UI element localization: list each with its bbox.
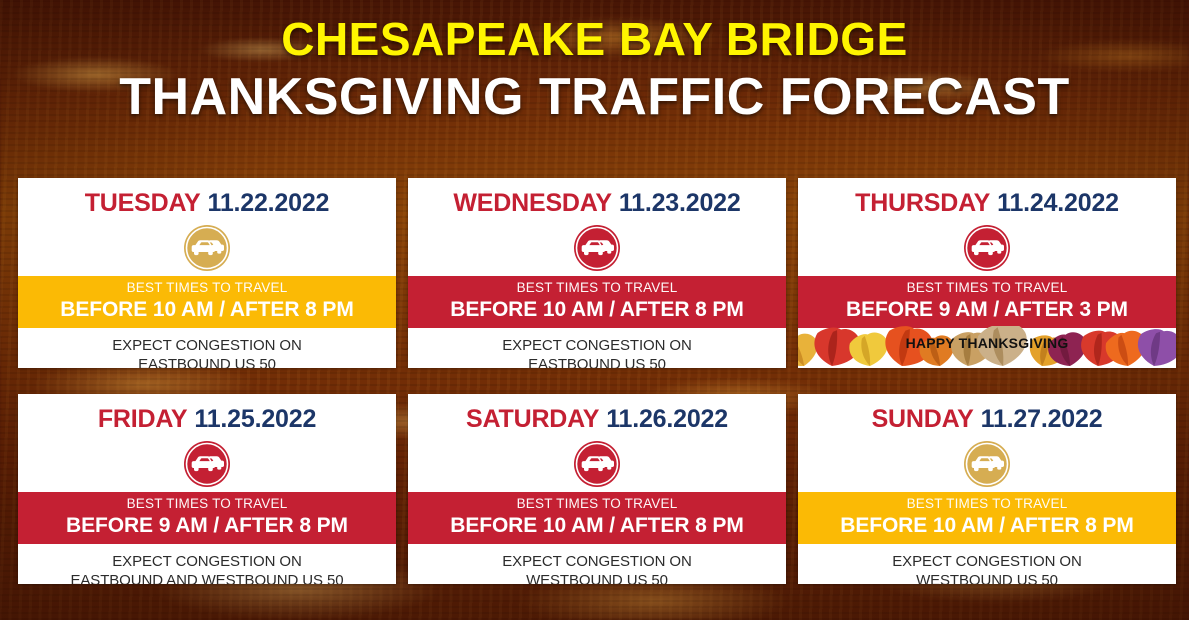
card-date-heading: SATURDAY11.26.2022 — [466, 405, 728, 434]
card-date: 11.26.2022 — [606, 405, 728, 433]
best-times-band: BEST TIMES TO TRAVELBEFORE 9 AM / AFTER … — [798, 276, 1176, 328]
best-times-value: BEFORE 9 AM / AFTER 3 PM — [798, 297, 1176, 322]
card-day-name: SUNDAY — [872, 405, 974, 433]
traffic-cars-icon — [183, 224, 231, 272]
congestion-note-line-2: EASTBOUND AND WESTBOUND US 50 — [71, 571, 344, 584]
forecast-card-wednesday: WEDNESDAY11.23.2022BEST TIMES TO TRAVELB… — [408, 178, 786, 368]
best-times-value: BEFORE 10 AM / AFTER 8 PM — [18, 297, 396, 322]
best-times-band: BEST TIMES TO TRAVELBEFORE 9 AM / AFTER … — [18, 492, 396, 544]
holiday-message: HAPPY THANKSGIVING — [906, 335, 1069, 351]
congestion-note-line-1: EXPECT CONGESTION ON — [71, 552, 344, 571]
card-day-name: TUESDAY — [85, 189, 201, 217]
congestion-note-line-2: WESTBOUND US 50 — [502, 571, 691, 584]
card-date-heading: WEDNESDAY11.23.2022 — [453, 189, 740, 218]
card-date: 11.23.2022 — [619, 189, 741, 217]
card-day-name: THURSDAY — [855, 189, 990, 217]
card-date: 11.25.2022 — [194, 405, 316, 433]
best-times-band: BEST TIMES TO TRAVELBEFORE 10 AM / AFTER… — [408, 492, 786, 544]
traffic-cars-icon — [573, 224, 621, 272]
card-date-heading: TUESDAY11.22.2022 — [85, 189, 330, 218]
page-title-secondary: THANKSGIVING TRAFFIC FORECAST — [0, 71, 1189, 124]
best-times-label: BEST TIMES TO TRAVEL — [408, 280, 786, 296]
best-times-band: BEST TIMES TO TRAVELBEFORE 10 AM / AFTER… — [408, 276, 786, 328]
best-times-label: BEST TIMES TO TRAVEL — [18, 280, 396, 296]
traffic-cars-icon — [573, 440, 621, 488]
forecast-card-tuesday: TUESDAY11.22.2022BEST TIMES TO TRAVELBEF… — [18, 178, 396, 368]
traffic-forecast-graphic: CHESAPEAKE BAY BRIDGE THANKSGIVING TRAFF… — [0, 0, 1189, 620]
congestion-note-line-2: WESTBOUND US 50 — [892, 571, 1081, 584]
best-times-label: BEST TIMES TO TRAVEL — [18, 496, 396, 512]
congestion-note-line-1: EXPECT CONGESTION ON — [502, 336, 691, 355]
forecast-card-sunday: SUNDAY11.27.2022BEST TIMES TO TRAVELBEFO… — [798, 394, 1176, 584]
congestion-note: EXPECT CONGESTION ONEASTBOUND US 50 — [106, 336, 307, 368]
card-day-name: SATURDAY — [466, 405, 599, 433]
forecast-card-friday: FRIDAY11.25.2022BEST TIMES TO TRAVELBEFO… — [18, 394, 396, 584]
header: CHESAPEAKE BAY BRIDGE THANKSGIVING TRAFF… — [0, 0, 1189, 124]
card-date: 11.24.2022 — [997, 189, 1119, 217]
congestion-note-line-2: EASTBOUND US 50 — [112, 355, 301, 368]
card-date: 11.27.2022 — [981, 405, 1103, 433]
best-times-label: BEST TIMES TO TRAVEL — [798, 280, 1176, 296]
forecast-card-grid: TUESDAY11.22.2022BEST TIMES TO TRAVELBEF… — [18, 178, 1172, 584]
card-date: 11.22.2022 — [208, 189, 330, 217]
forecast-card-thursday: THURSDAY11.24.2022BEST TIMES TO TRAVELBE… — [798, 178, 1176, 368]
best-times-label: BEST TIMES TO TRAVEL — [798, 496, 1176, 512]
congestion-note: EXPECT CONGESTION ONEASTBOUND AND WESTBO… — [65, 552, 350, 584]
card-date-heading: FRIDAY11.25.2022 — [98, 405, 316, 434]
card-date-heading: THURSDAY11.24.2022 — [855, 189, 1119, 218]
best-times-value: BEFORE 10 AM / AFTER 8 PM — [798, 513, 1176, 538]
forecast-card-saturday: SATURDAY11.26.2022BEST TIMES TO TRAVELBE… — [408, 394, 786, 584]
best-times-value: BEFORE 9 AM / AFTER 8 PM — [18, 513, 396, 538]
card-date-heading: SUNDAY11.27.2022 — [872, 405, 1103, 434]
page-title-primary: CHESAPEAKE BAY BRIDGE — [0, 16, 1189, 63]
card-day-name: FRIDAY — [98, 405, 188, 433]
congestion-note-line-1: EXPECT CONGESTION ON — [502, 552, 691, 571]
congestion-note: EXPECT CONGESTION ONEASTBOUND US 50 — [496, 336, 697, 368]
congestion-note-line-1: EXPECT CONGESTION ON — [112, 336, 301, 355]
best-times-band: BEST TIMES TO TRAVELBEFORE 10 AM / AFTER… — [798, 492, 1176, 544]
best-times-band: BEST TIMES TO TRAVELBEFORE 10 AM / AFTER… — [18, 276, 396, 328]
congestion-note-line-2: EASTBOUND US 50 — [502, 355, 691, 368]
traffic-cars-icon — [183, 440, 231, 488]
best-times-value: BEFORE 10 AM / AFTER 8 PM — [408, 297, 786, 322]
congestion-note: EXPECT CONGESTION ONWESTBOUND US 50 — [496, 552, 697, 584]
traffic-cars-icon — [963, 440, 1011, 488]
congestion-note: EXPECT CONGESTION ONWESTBOUND US 50 — [886, 552, 1087, 584]
card-day-name: WEDNESDAY — [453, 189, 611, 217]
best-times-value: BEFORE 10 AM / AFTER 8 PM — [408, 513, 786, 538]
congestion-note-line-1: EXPECT CONGESTION ON — [892, 552, 1081, 571]
traffic-cars-icon — [963, 224, 1011, 272]
best-times-label: BEST TIMES TO TRAVEL — [408, 496, 786, 512]
